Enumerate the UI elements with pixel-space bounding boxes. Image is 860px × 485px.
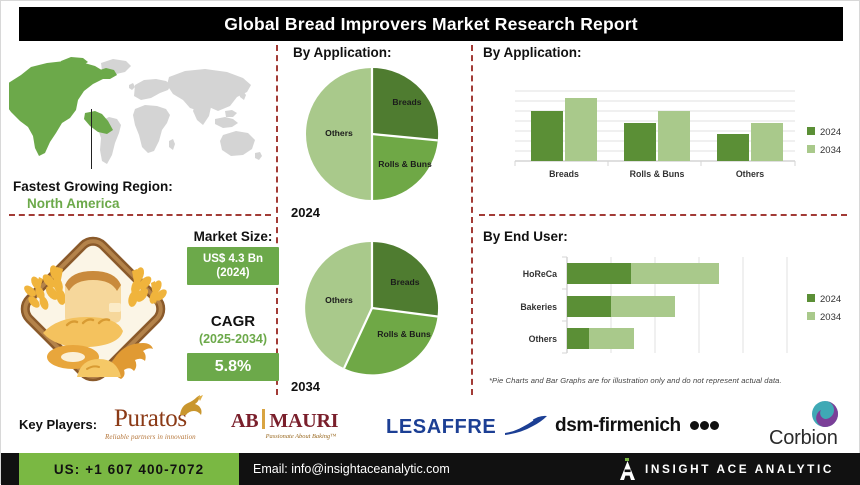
bar-bakeries-2024 <box>567 296 611 317</box>
fastest-region-value: North America <box>27 196 285 211</box>
bar-category-others: Others <box>736 169 764 179</box>
header-bar: Global Bread Improvers Market Research R… <box>19 7 843 41</box>
logo-lesaffre-text: LESAFFRE <box>386 416 496 438</box>
bar-breads-2034 <box>565 98 597 161</box>
logo-corbion-text: Corbion <box>769 427 838 450</box>
legend-label-2024: 2024 <box>820 127 841 138</box>
logo-ab-mauri[interactable]: ABMAURI Passionate About Baking™ <box>231 409 338 440</box>
fastest-region-label: Fastest Growing Region: <box>13 179 271 194</box>
bar-category-bakeries: Bakeries <box>520 302 557 312</box>
bar-breads-2024 <box>531 111 563 161</box>
cagr-value-box: 5.8% <box>187 353 279 381</box>
cagr-years: (2025-2034) <box>179 332 287 346</box>
pie-2024-slice-label-rolls: Rolls & Buns <box>378 159 432 169</box>
market-size-year: (2024) <box>216 266 249 280</box>
bar-bakeries-2034 <box>611 296 675 317</box>
logo-ab-divider <box>262 409 265 429</box>
logo-puratos[interactable]: Puratos Reliable partners in innovation <box>105 405 196 441</box>
bar-category-others-enduser: Others <box>529 334 557 344</box>
market-size-box: US$ 4.3 Bn (2024) <box>187 247 279 285</box>
legend-swatch-2034 <box>807 145 815 153</box>
page-title: Global Bread Improvers Market Research R… <box>224 14 638 35</box>
world-map <box>9 49 271 174</box>
logo-mauri-text: MAURI <box>269 410 338 432</box>
footer-email[interactable]: Email: info@insightaceanalytic.com <box>253 453 450 485</box>
legend-swatch-enduser-2034 <box>807 312 815 320</box>
pie-2024-year: 2024 <box>291 205 320 220</box>
cagr-value: 5.8% <box>215 357 251 377</box>
legend-swatch-enduser-2024 <box>807 294 815 302</box>
logo-ab-text: AB <box>231 410 258 432</box>
map-pin-line <box>91 109 92 169</box>
bar-chart-enduser: HoReCa Bakeries Others 2024 2034 <box>479 249 855 371</box>
bar-enduser-others-2024 <box>567 328 589 349</box>
footer-bar: US: +1 607 400-7072 Email: info@insighta… <box>1 453 860 485</box>
pie-2024-slice-label-breads: Breads <box>392 97 421 107</box>
bar-chart-application: Breads Rolls & Buns Others 2024 2034 <box>479 63 855 187</box>
bar-category-horeca: HoReCa <box>523 269 557 279</box>
key-players-label: Key Players: <box>19 417 97 432</box>
logo-puratos-tagline: Reliable partners in innovation <box>105 433 196 441</box>
pie-2024-title: By Application: <box>293 45 392 60</box>
dsm-dots-icon <box>689 418 719 436</box>
bread-illustration-icon <box>9 229 177 389</box>
pie-2024-slice-label-others: Others <box>325 128 353 138</box>
bar-chart-enduser-title: By End User: <box>483 229 568 244</box>
bar-category-breads: Breads <box>549 169 579 179</box>
pie-chart-2024: Breads Rolls & Buns Others <box>301 63 443 205</box>
corbion-swirl-icon <box>805 399 845 429</box>
legend-label-2034: 2034 <box>820 145 841 156</box>
bar-horeca-2024 <box>567 263 631 284</box>
bar-enduser-others-2034 <box>589 328 634 349</box>
bar-horeca-2034 <box>631 263 719 284</box>
legend-swatch-2024 <box>807 127 815 135</box>
bar-category-rolls: Rolls & Buns <box>630 169 685 179</box>
market-size-value: US$ 4.3 Bn <box>203 252 263 266</box>
cagr-label: CAGR <box>179 313 287 330</box>
pie-2034-slice-label-others: Others <box>325 295 353 305</box>
logo-lesaffre[interactable]: LESAFFRE <box>386 415 549 439</box>
pie-2034-slice-label-breads: Breads <box>390 277 419 287</box>
bar-rolls-2024 <box>624 123 656 161</box>
pie-2034-year: 2034 <box>291 379 320 394</box>
logo-corbion[interactable]: Corbion <box>769 405 838 450</box>
market-size-label: Market Size: <box>179 229 287 244</box>
chart-footnote: *Pie Charts and Bar Graphs are for illus… <box>489 376 782 385</box>
leaf-swoosh-icon <box>503 415 549 437</box>
pie-2034-slice-label-rolls: Rolls & Buns <box>377 329 431 339</box>
footer-brand-name: INSIGHT ACE ANALYTIC <box>645 462 834 476</box>
logo-ab-mauri-tagline: Passionate About Baking™ <box>231 433 338 440</box>
footer-phone: US: +1 607 400-7072 <box>54 462 204 477</box>
pie-chart-2034: Breads Rolls & Buns Others <box>301 237 443 379</box>
logo-dsm-firmenich[interactable]: dsm-firmenich <box>555 415 719 437</box>
key-players-row: Key Players: Puratos Reliable partners i… <box>1 399 860 453</box>
legend-label-enduser-2024: 2024 <box>820 294 841 305</box>
bar-others-2034 <box>751 123 783 161</box>
divider-vertical-right <box>471 45 473 395</box>
divider-horizontal-right <box>479 214 847 216</box>
footer-brand: INSIGHT ACE ANALYTIC <box>619 453 834 485</box>
insightace-logo-icon <box>619 458 636 480</box>
unicorn-icon <box>176 395 206 417</box>
bar-rolls-2034 <box>658 111 690 161</box>
divider-horizontal-left <box>9 214 271 216</box>
logo-dsm-text: dsm-firmenich <box>555 415 681 436</box>
bar-chart-application-title: By Application: <box>483 45 582 60</box>
infographic-page: Global Bread Improvers Market Research R… <box>0 0 860 484</box>
bar-others-2024 <box>717 134 749 161</box>
legend-label-enduser-2034: 2034 <box>820 312 841 323</box>
footer-phone-box[interactable]: US: +1 607 400-7072 <box>19 453 239 485</box>
